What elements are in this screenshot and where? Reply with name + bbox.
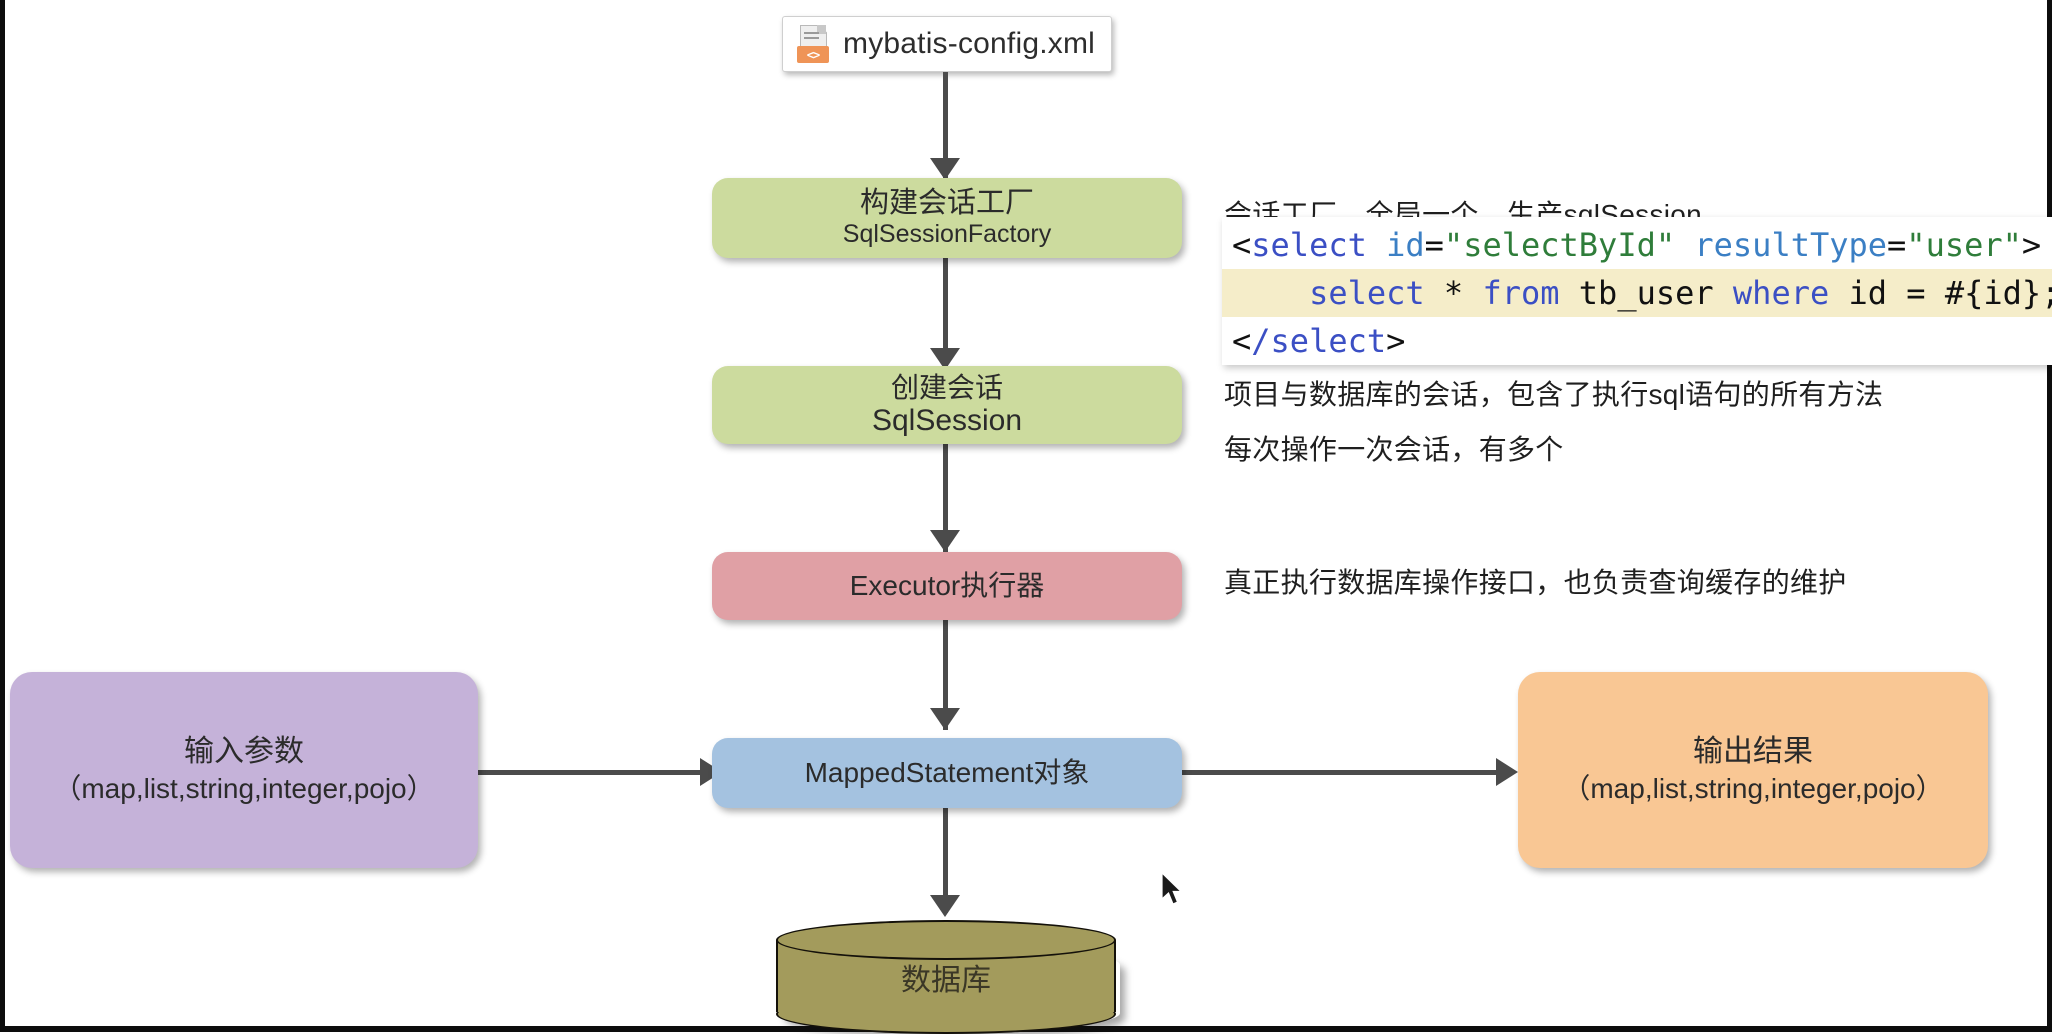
code-line-2: select * from tb_user where id = #{id};	[1222, 269, 2052, 317]
node-mappedstatement[interactable]: MappedStatement对象	[712, 738, 1182, 808]
xml-tag-badge: <>	[797, 46, 829, 63]
node-sqlsessionfactory[interactable]: 构建会话工厂 SqlSessionFactory	[712, 178, 1182, 258]
node-mappedstatement-title: MappedStatement对象	[805, 757, 1090, 789]
node-database-label: 数据库	[776, 922, 1116, 1032]
xml-file-icon: <>	[797, 25, 831, 63]
node-executor-title: Executor执行器	[850, 570, 1045, 602]
mouse-pointer-icon	[1160, 872, 1186, 908]
node-sqlsessionfactory-subtitle: SqlSessionFactory	[843, 220, 1051, 249]
arrowhead-config-to-factory	[930, 158, 960, 180]
node-input-parameters[interactable]: 输入参数 （map,list,string,integer,pojo）	[10, 672, 478, 868]
frame-edge-left	[0, 0, 5, 1032]
annotation-executor: 真正执行数据库操作接口，也负责查询缓存的维护	[1224, 561, 1847, 601]
node-sqlsession-subtitle: SqlSession	[872, 404, 1022, 439]
arrowhead-ms-to-output	[1496, 758, 1518, 786]
node-input-subtitle: （map,list,string,integer,pojo）	[53, 773, 434, 805]
file-node-mybatis-config[interactable]: <> mybatis-config.xml	[782, 16, 1112, 72]
frame-edge-right	[2047, 0, 2052, 1032]
node-sqlsession-title: 创建会话	[891, 372, 1003, 404]
node-sqlsession[interactable]: 创建会话 SqlSession	[712, 366, 1182, 444]
node-output-title: 输出结果	[1693, 735, 1813, 770]
code-line-3: </select>	[1222, 317, 2052, 365]
node-output-result[interactable]: 输出结果 （map,list,string,integer,pojo）	[1518, 672, 1988, 868]
arrowhead-ms-to-database	[930, 895, 960, 917]
annotation-sqlsession-1: 项目与数据库的会话，包含了执行sql语句的所有方法	[1224, 373, 1883, 413]
file-node-label: mybatis-config.xml	[843, 27, 1095, 61]
connector-input-to-ms	[478, 770, 708, 775]
node-database[interactable]: 数据库	[776, 922, 1116, 1014]
annotation-sqlsession-2: 每次操作一次会话，有多个	[1224, 428, 1564, 468]
node-input-title: 输入参数	[184, 735, 304, 770]
code-snippet-overlay: <select id="selectById" resultType="user…	[1222, 217, 2052, 365]
code-line-1: <select id="selectById" resultType="user…	[1222, 221, 2052, 269]
node-executor[interactable]: Executor执行器	[712, 552, 1182, 620]
node-output-subtitle: （map,list,string,integer,pojo）	[1562, 773, 1943, 805]
connector-ms-to-output	[1180, 770, 1502, 775]
arrowhead-executor-to-ms	[930, 708, 960, 730]
node-sqlsessionfactory-title: 构建会话工厂	[860, 187, 1034, 220]
arrowhead-session-to-executor	[930, 530, 960, 552]
diagram-canvas: <> mybatis-config.xml 构建会话工厂 SqlSessionF…	[0, 0, 2052, 1032]
